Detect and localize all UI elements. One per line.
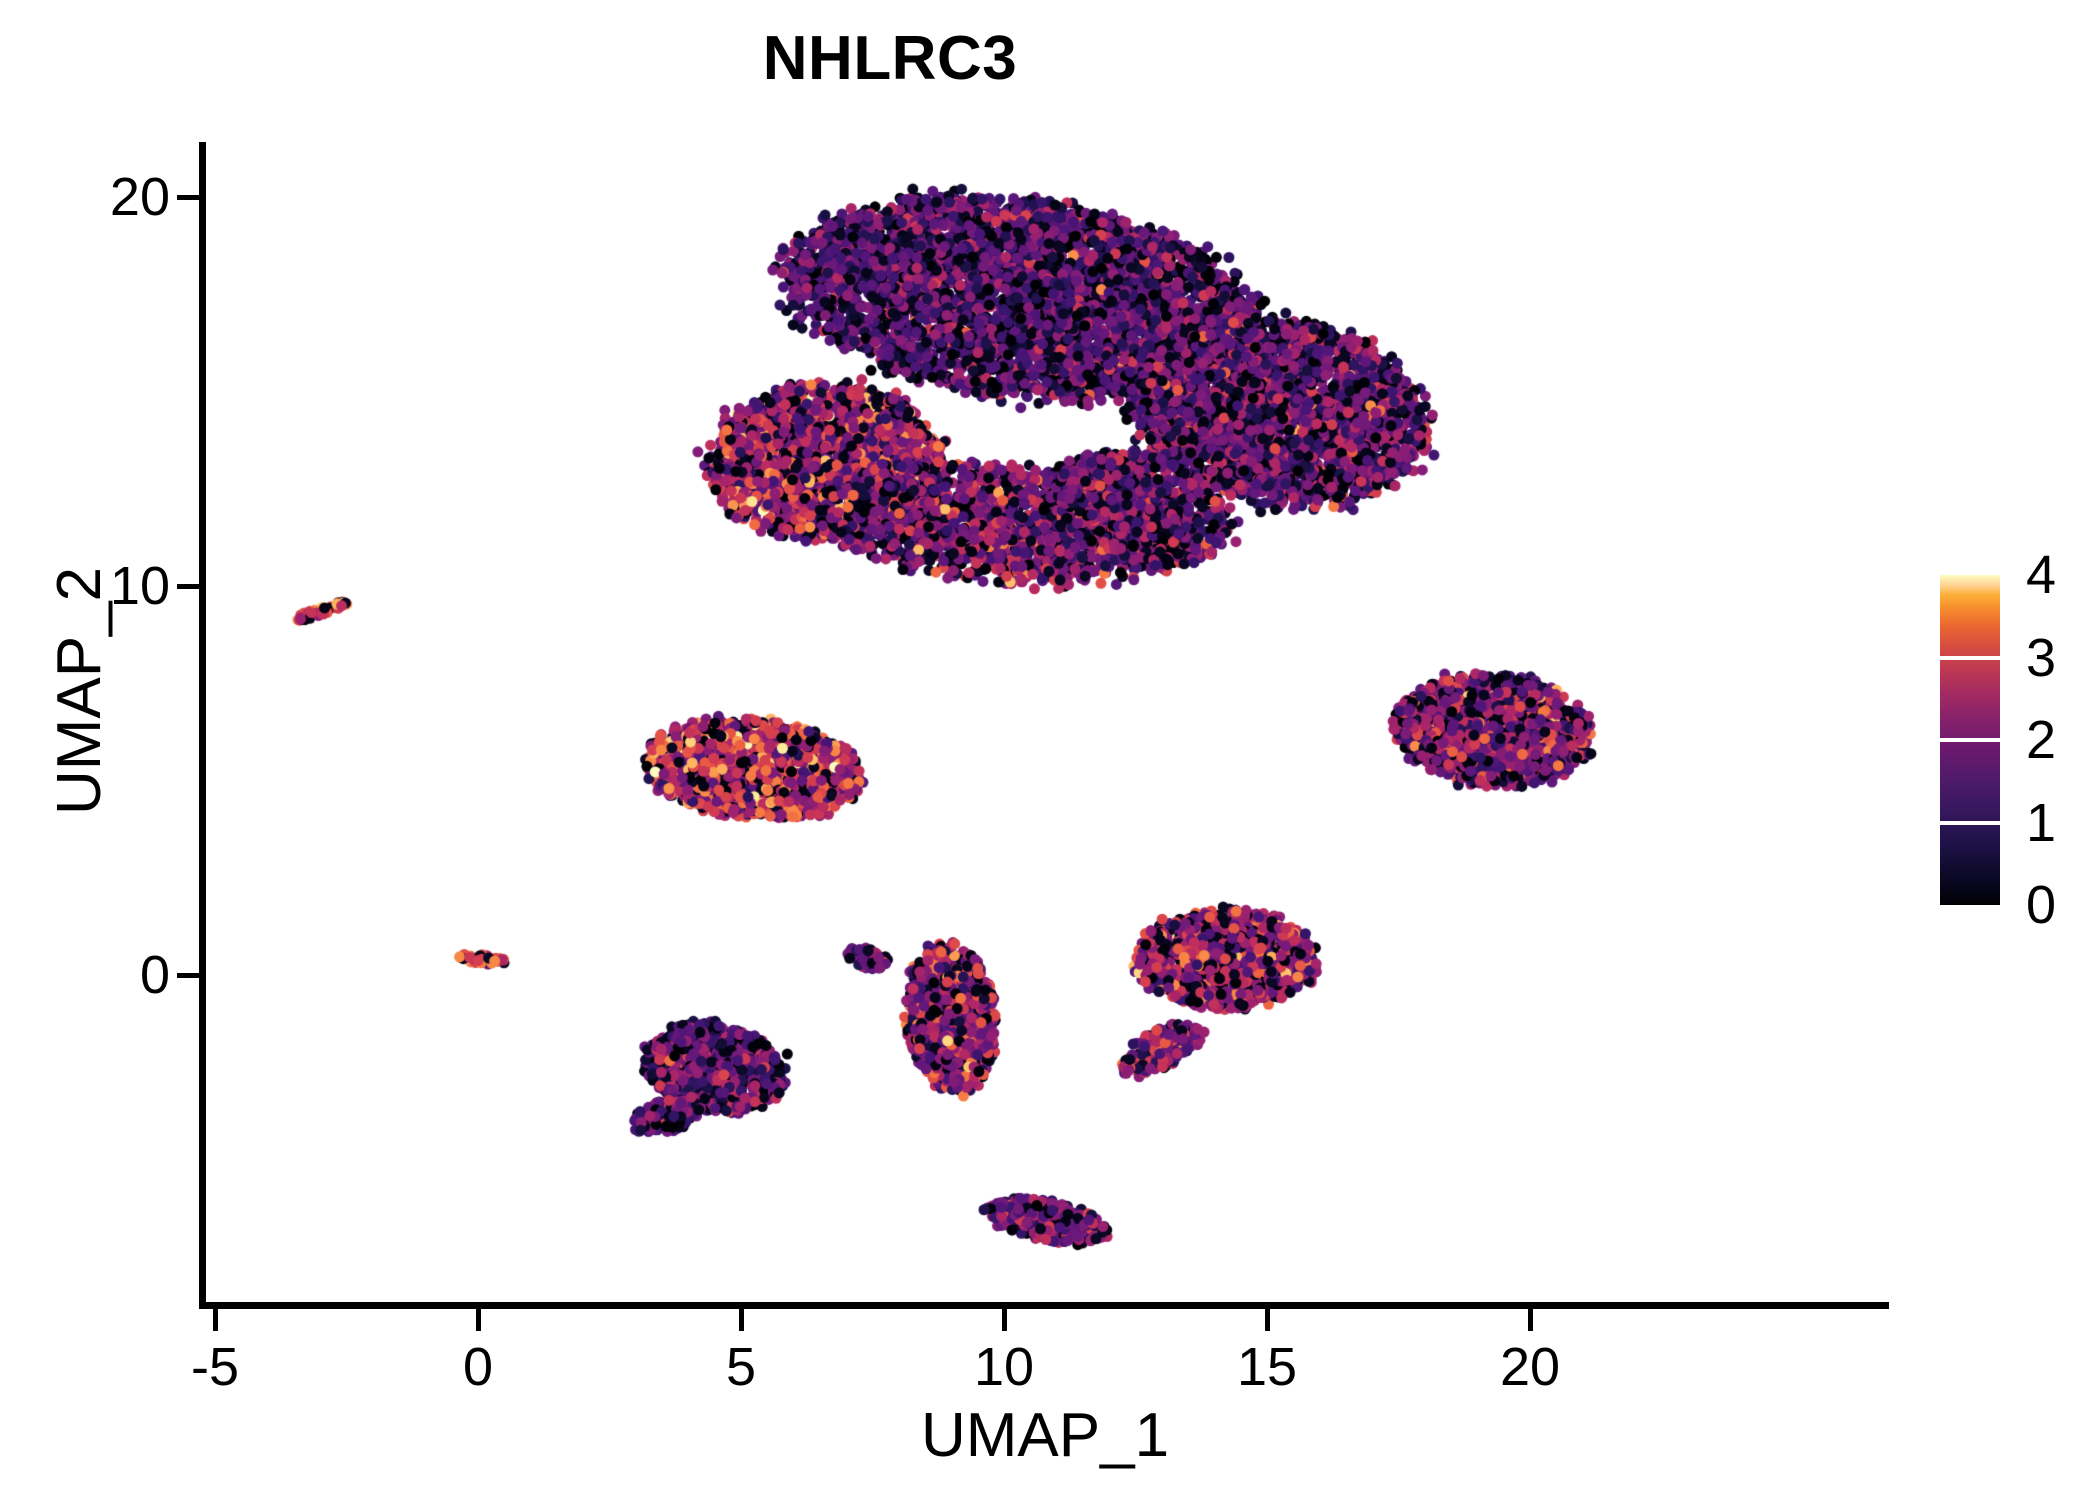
y-axis-label: UMAP_2 [49, 111, 111, 1271]
scatter-plot-canvas [205, 142, 1885, 1302]
umap-feature-plot: NHLRC3 -505101520 01020 UMAP_1 UMAP_2 01… [0, 0, 2100, 1500]
x-tick-mark [213, 1309, 218, 1331]
colorbar-tick-label: 4 [2026, 548, 2056, 602]
x-tick-label: 5 [726, 1340, 756, 1394]
colorbar-tick-label: 0 [2026, 878, 2056, 932]
y-tick-label: 0 [140, 948, 170, 1002]
colorbar-tick-mark [1940, 656, 2000, 660]
colorbar-tick-mark [1940, 821, 2000, 825]
x-tick-label: 20 [1500, 1340, 1560, 1394]
y-tick-label: 10 [110, 559, 170, 613]
x-tick-mark [1265, 1309, 1270, 1331]
y-tick-label: 20 [110, 170, 170, 224]
page-title: NHLRC3 [0, 28, 1780, 90]
x-axis-label: UMAP_1 [205, 1405, 1885, 1467]
y-tick-mark [177, 973, 199, 978]
x-tick-label: 10 [974, 1340, 1034, 1394]
y-tick-mark [177, 584, 199, 589]
x-tick-label: 0 [463, 1340, 493, 1394]
plot-panel [205, 142, 1885, 1302]
x-tick-mark [1002, 1309, 1007, 1331]
x-axis-line [199, 1302, 1889, 1309]
colorbar-tick-label: 3 [2026, 631, 2056, 685]
colorbar-legend: 01234 [1940, 575, 2090, 915]
x-tick-label: -5 [191, 1340, 239, 1394]
x-tick-label: 15 [1237, 1340, 1297, 1394]
x-tick-mark [739, 1309, 744, 1331]
x-tick-mark [1528, 1309, 1533, 1331]
colorbar-tick-label: 1 [2026, 796, 2056, 850]
y-axis-line [199, 142, 206, 1309]
colorbar-tick-mark [1940, 738, 2000, 742]
colorbar-tick-label: 2 [2026, 713, 2056, 767]
y-tick-mark [177, 195, 199, 200]
x-tick-mark [476, 1309, 481, 1331]
